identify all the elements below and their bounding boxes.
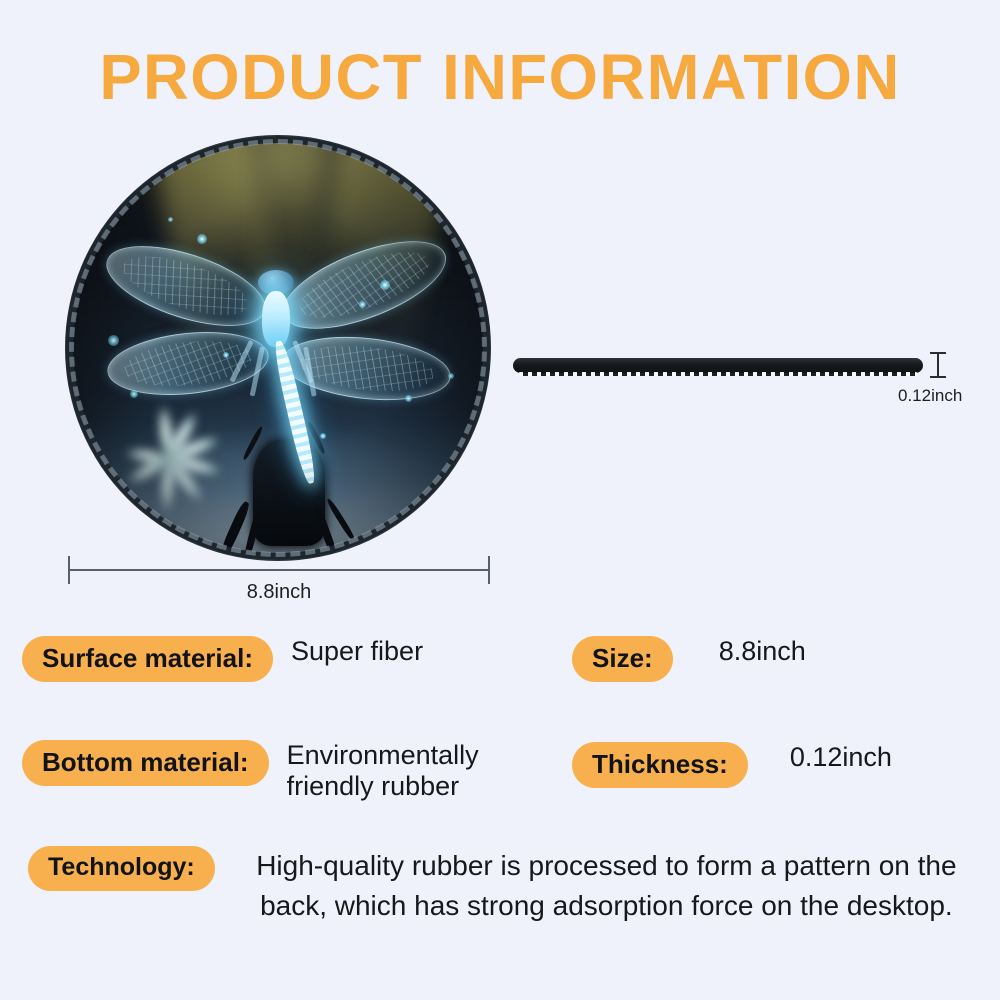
spec-row-thickness: Thickness: 0.12inch — [572, 742, 892, 788]
spec-row-surface-material: Surface material: Super fiber — [22, 636, 423, 682]
thickness-label: 0.12inch — [898, 386, 962, 406]
width-label: 8.8inch — [68, 581, 490, 604]
page-title: PRODUCT INFORMATION — [5, 44, 995, 111]
mousepad-side-profile — [513, 358, 923, 373]
spec-value-technology: High-quality rubber is processed to form… — [235, 846, 978, 926]
spec-label-surface-material: Surface material: — [22, 636, 273, 682]
spec-value-surface-material: Super fiber — [291, 636, 423, 667]
spec-label-thickness: Thickness: — [572, 742, 748, 788]
spec-row-bottom-material: Bottom material: Environmentally friendl… — [22, 740, 545, 802]
thickness-dimension-marker — [930, 352, 946, 378]
dimension-bar — [68, 569, 490, 571]
mousepad-surface — [66, 136, 490, 560]
artwork-vignette — [66, 136, 490, 560]
product-image-top-view — [66, 136, 490, 560]
spec-row-technology: Technology: High-quality rubber is proce… — [28, 846, 978, 926]
rubber-texture-pattern — [519, 372, 917, 376]
spec-value-bottom-material: Environmentally friendly rubber — [287, 740, 545, 802]
dimension-cap-right — [488, 556, 490, 584]
spec-value-thickness: 0.12inch — [790, 742, 892, 773]
width-dimension-line: 8.8inch — [68, 569, 490, 570]
spec-row-size: Size: 8.8inch — [572, 636, 806, 682]
spec-label-technology: Technology: — [28, 846, 215, 891]
spec-label-size: Size: — [572, 636, 673, 682]
product-image-side-view — [513, 358, 923, 378]
dimension-cap-left — [68, 556, 70, 584]
spec-label-bottom-material: Bottom material: — [22, 740, 269, 786]
spec-value-size: 8.8inch — [719, 636, 806, 667]
